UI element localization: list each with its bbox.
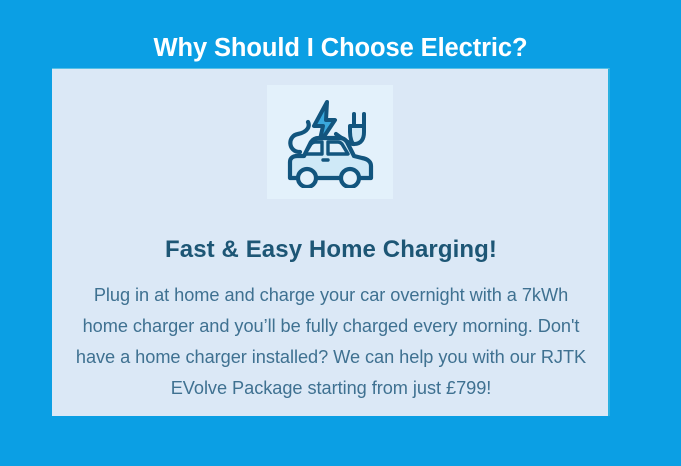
card-body-text: Plug in at home and charge your car over… [74,280,588,404]
page-title: Why Should I Choose Electric? [0,34,681,62]
benefit-card: Fast & Easy Home Charging! Plug in at ho… [52,68,610,416]
promo-page: Why Should I Choose Electric? [0,0,681,466]
electric-car-charging-icon [278,96,382,188]
icon-tile [267,85,393,199]
card-heading: Fast & Easy Home Charging! [52,236,610,265]
